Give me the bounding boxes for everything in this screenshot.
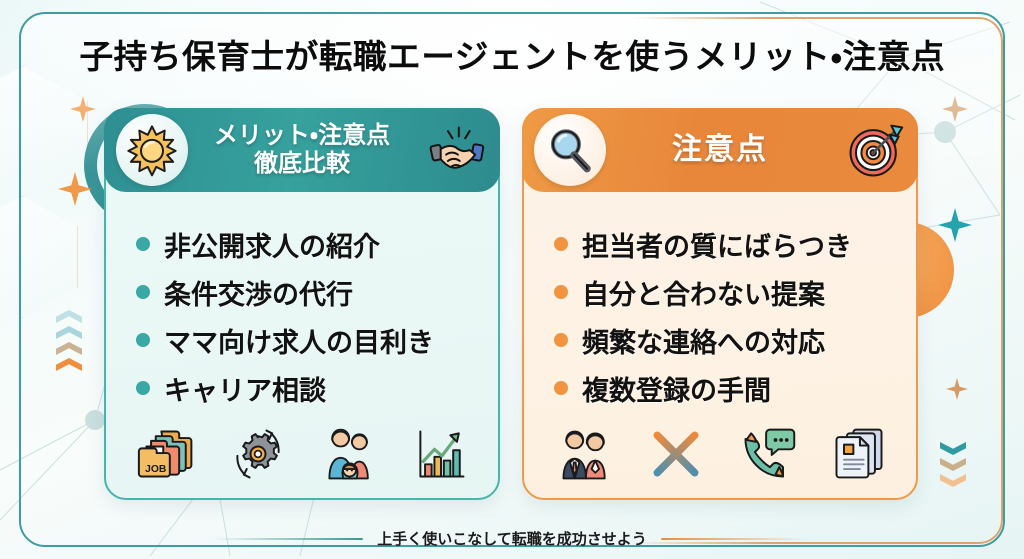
list-item: 条件交渉の代行 [136,268,434,316]
merit-header-line1: メリット・注意点 [214,122,390,150]
merit-header-line2: 徹底比較 [214,150,390,178]
footer-rule-left [213,538,363,540]
bullet-icon [554,285,568,299]
bullet-icon [136,285,150,299]
caution-header-text: 注意点 [672,132,768,167]
merit-card-header: メリット・注意点 徹底比較 [104,108,500,192]
merit-item-label: 条件交渉の代行 [164,273,353,312]
merit-item-label: キャリア相談 [164,369,326,408]
infographic-canvas: 子持ち保育士が転職エージェントを使うメリット・注意点 メリット・注意点 徹底比較 [0,0,1024,559]
bullet-icon [554,381,568,395]
list-item: 複数登録の手間 [554,364,852,412]
bullet-icon [136,237,150,251]
list-item: ママ向け求人の目利き [136,316,434,364]
list-item: 頻繁な連絡への対応 [554,316,852,364]
magnifier-icon [544,124,596,176]
merit-item-label: ママ向け求人の目利き [164,321,434,360]
merit-card: メリット・注意点 徹底比較 非公開求 [104,108,500,500]
caution-list: 担当者の質にばらつき 自分と合わない提案 頻繁な連絡への対応 複数登録の手間 [554,220,852,412]
bullet-icon [554,237,568,251]
business-people-icon [555,424,615,484]
gear-refresh-icon [228,424,288,484]
list-item: 自分と合わない提案 [554,268,852,316]
caution-item-label: 自分と合わない提案 [582,273,825,312]
merit-header-badge [116,114,188,186]
caution-icon-strip [524,424,920,484]
list-item: 担当者の質にばらつき [554,220,852,268]
merit-item-label: 非公開求人の紹介 [164,225,380,264]
list-item: 非公開求人の紹介 [136,220,434,268]
page-title: 子持ち保育士が転職エージェントを使うメリット・注意点 [79,30,945,78]
footer: 上手く使いこなして転職を成功させよう [0,528,1024,549]
family-with-baby-icon [320,424,380,484]
job-folder-icon: JOB [137,424,197,484]
phone-chat-icon [738,424,798,484]
caution-card-header: 注意点 [522,108,918,192]
job-folder-label: JOB [145,464,166,475]
sun-icon [125,123,179,177]
growth-chart-icon [411,424,471,484]
caution-header-badge [534,114,606,186]
caution-item-label: 担当者の質にばらつき [582,225,852,264]
list-item: キャリア相談 [136,364,434,412]
merit-list: 非公開求人の紹介 条件交渉の代行 ママ向け求人の目利き キャリア相談 [136,220,434,412]
caution-item-label: 複数登録の手間 [582,369,771,408]
caution-item-label: 頻繁な連絡への対応 [582,321,825,360]
page-title-bar: 子持ち保育士が転職エージェントを使うメリット・注意点 [0,30,1024,78]
bullet-icon [554,333,568,347]
handshake-icon [428,122,486,180]
stacked-documents-icon [829,424,889,484]
cross-mark-icon [646,424,706,484]
target-dartboard-icon [846,122,904,180]
merit-icon-strip: JOB [106,424,502,484]
bullet-icon [136,333,150,347]
footer-rule-right [661,538,811,540]
caution-header-line1: 注意点 [672,132,768,167]
footer-text: 上手く使いこなして転職を成功させよう [377,528,647,549]
caution-card: 注意点 担当者の質にばらつき [522,108,918,500]
merit-header-text: メリット・注意点 徹底比較 [214,122,390,179]
bullet-icon [136,381,150,395]
